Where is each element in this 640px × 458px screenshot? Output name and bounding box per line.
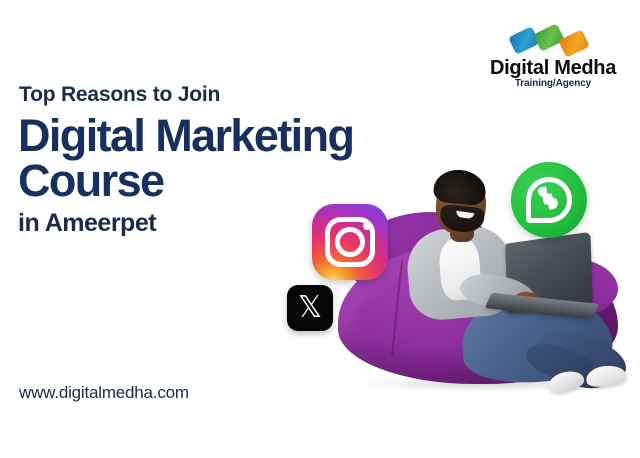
x-glyph: 𝕏 xyxy=(287,285,333,331)
whatsapp-handset xyxy=(538,187,560,211)
brand-logo[interactable]: Digital Medha Training/Agency xyxy=(483,26,623,94)
website-url[interactable]: www.digitalmedha.com xyxy=(19,383,189,403)
instagram-lens xyxy=(335,227,365,257)
instagram-icon[interactable] xyxy=(312,204,388,280)
logo-company-name: Digital Medha xyxy=(483,57,623,79)
headline-kicker: Top Reasons to Join xyxy=(19,83,220,107)
logo-tile-orange-icon xyxy=(558,29,590,57)
promo-banner: Digital Medha Training/Agency Top Reason… xyxy=(0,0,640,458)
logo-tile-green-icon xyxy=(533,23,565,51)
hero-photo xyxy=(310,150,640,412)
instagram-dot xyxy=(363,222,371,230)
person-hair xyxy=(432,167,487,206)
x-twitter-icon[interactable]: 𝕏 xyxy=(287,285,333,331)
logo-mark xyxy=(483,26,623,56)
logo-tagline: Training/Agency xyxy=(483,78,623,90)
whatsapp-icon[interactable] xyxy=(511,162,587,238)
headline-location: in Ameerpet xyxy=(18,209,156,237)
